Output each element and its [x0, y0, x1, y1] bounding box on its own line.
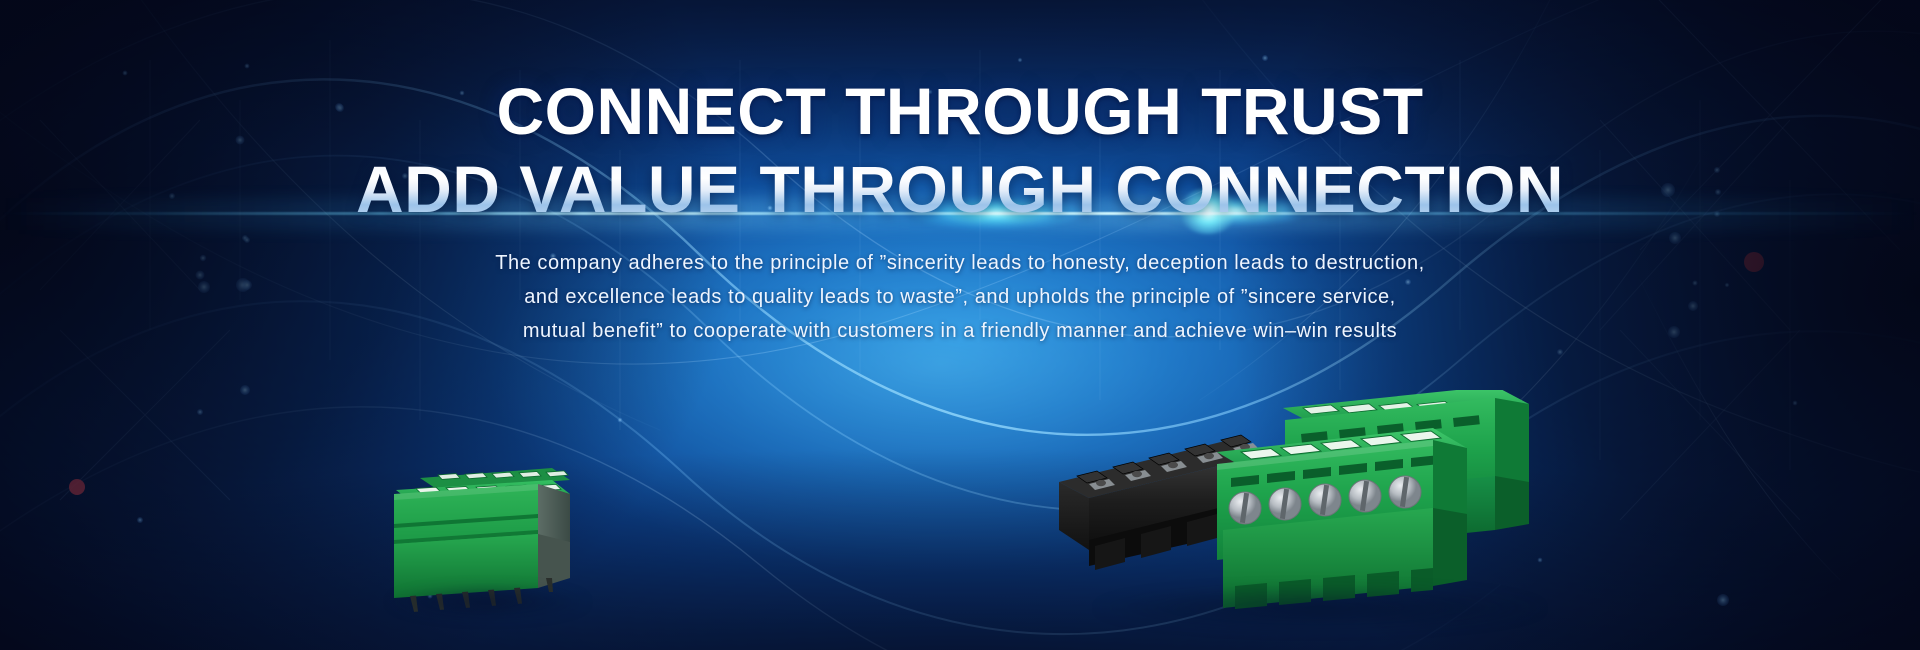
product-shadow — [388, 585, 588, 619]
headline-line-2: ADD VALUE THROUGH CONNECTION — [0, 156, 1920, 222]
subtitle-line-2: and excellence leads to quality leads to… — [0, 280, 1920, 314]
product-group-shadow — [1095, 585, 1545, 631]
headline-line-1: CONNECT THROUGH TRUST — [0, 78, 1920, 144]
headline-block: CONNECT THROUGH TRUST ADD VALUE THROUGH … — [0, 78, 1920, 222]
subtitle-block: The company adheres to the principle of … — [0, 246, 1920, 348]
hero-banner: CONNECT THROUGH TRUST ADD VALUE THROUGH … — [0, 0, 1920, 650]
screw-terminal-plug-front — [1217, 428, 1467, 609]
product-group-right — [1055, 390, 1595, 640]
subtitle-line-1: The company adheres to the principle of … — [0, 246, 1920, 280]
subtitle-line-3: mutual benefit” to cooperate with custom… — [0, 314, 1920, 348]
product-pcb-header-connector — [380, 450, 610, 620]
